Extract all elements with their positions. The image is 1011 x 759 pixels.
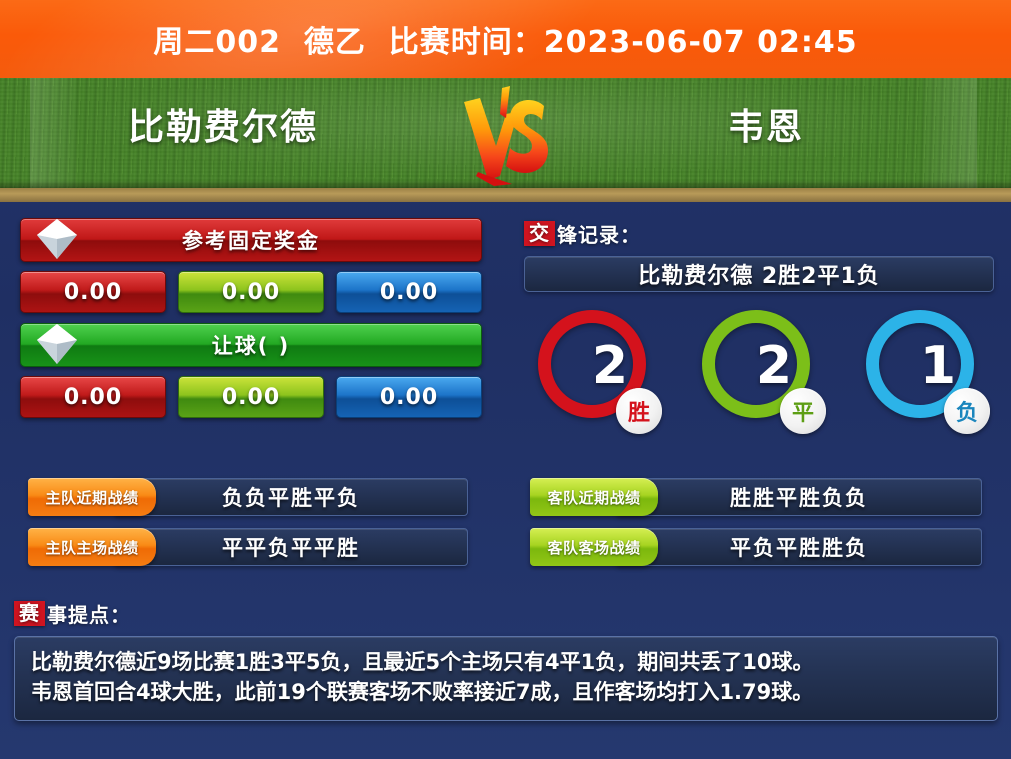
away-recent-form-row: 客队近期战绩 胜胜平胜负负 [530, 478, 982, 516]
away-venue-form-value: 平负平胜胜负 [616, 528, 982, 566]
away-recent-form-value: 胜胜平胜负负 [616, 478, 982, 516]
h2h-label-text: 锋记录： [557, 219, 641, 248]
h2h-summary: 比勒费尔德 2胜2平1负 [524, 256, 994, 292]
h2h-chip: 交 [524, 221, 555, 246]
grass-stripe-left [30, 78, 76, 188]
handicap-label: 让球( ) [212, 330, 291, 360]
away-venue-form-tag: 客队客场战绩 [530, 528, 658, 566]
home-venue-form-row: 主队主场战绩 平平负平平胜 [28, 528, 468, 566]
dirt-strip [0, 188, 1011, 202]
home-form-rows: 主队近期战绩 负负平胜平负 主队主场战绩 平平负平平胜 [28, 478, 468, 578]
handicap-values-row: 0.00 0.00 0.00 [20, 376, 482, 418]
tips-section-label: 赛 事提点： [14, 598, 998, 628]
home-team-name: 比勒费尔德 [128, 98, 318, 150]
tips-box: 比勒费尔德近9场比赛1胜3平5负，且最近5个主场只有4平1负，期间共丢了10球。… [14, 636, 998, 721]
home-recent-form-value: 负负平胜平负 [114, 478, 468, 516]
h2h-panel: 交 锋记录： 比勒费尔德 2胜2平1负 2 胜 2 平 1 负 [524, 218, 994, 430]
tips-section: 赛 事提点： 比勒费尔德近9场比赛1胜3平5负，且最近5个主场只有4平1负，期间… [14, 598, 998, 721]
h2h-ring-draw: 2 平 [702, 310, 822, 430]
home-venue-form-tag: 主队主场战绩 [28, 528, 156, 566]
away-venue-form-row: 客队客场战绩 平负平胜胜负 [530, 528, 982, 566]
h2h-ring-win: 2 胜 [538, 310, 658, 430]
handicap-draw-value[interactable]: 0.00 [178, 376, 324, 418]
away-form-rows: 客队近期战绩 胜胜平胜负负 客队客场战绩 平负平胜胜负 [530, 478, 982, 578]
h2h-section-label: 交 锋记录： [524, 218, 994, 248]
handicap-lose-value[interactable]: 0.00 [336, 376, 482, 418]
fixed-prize-header[interactable]: 参考固定奖金 [20, 218, 482, 262]
fixed-prize-label: 参考固定奖金 [182, 225, 320, 255]
away-recent-form-tag: 客队近期战绩 [530, 478, 658, 516]
page-header: 周二002 德乙 比赛时间：2023-06-07 02:45 [0, 0, 1011, 78]
diamond-icon [31, 318, 83, 370]
ring-draw-badge: 平 [780, 388, 826, 434]
ring-win-badge: 胜 [616, 388, 662, 434]
fixed-prize-draw-value[interactable]: 0.00 [178, 271, 324, 313]
vs-icon [456, 84, 556, 188]
match-preview-page: 周二002 德乙 比赛时间：2023-06-07 02:45 比勒费尔德 韦恩 [0, 0, 1011, 759]
handicap-header[interactable]: 让球( ) [20, 323, 482, 367]
odds-panel: 参考固定奖金 0.00 0.00 0.00 让球( ) 0.00 0.00 0.… [20, 218, 482, 428]
tips-line-1: 比勒费尔德近9场比赛1胜3平5负，且最近5个主场只有4平1负，期间共丢了10球。 [31, 648, 981, 678]
header-title: 周二002 德乙 比赛时间：2023-06-07 02:45 [153, 17, 857, 61]
grass-stripe-right [923, 78, 977, 188]
fixed-prize-win-value[interactable]: 0.00 [20, 271, 166, 313]
handicap-win-value[interactable]: 0.00 [20, 376, 166, 418]
h2h-rings: 2 胜 2 平 1 负 [524, 306, 994, 430]
fixed-prize-values-row: 0.00 0.00 0.00 [20, 271, 482, 313]
fixed-prize-lose-value[interactable]: 0.00 [336, 271, 482, 313]
tips-chip: 赛 [14, 601, 45, 626]
tips-label-text: 事提点： [47, 599, 131, 628]
home-recent-form-row: 主队近期战绩 负负平胜平负 [28, 478, 468, 516]
diamond-icon [31, 213, 83, 265]
home-recent-form-tag: 主队近期战绩 [28, 478, 156, 516]
h2h-ring-lose: 1 负 [866, 310, 986, 430]
ring-lose-badge: 负 [944, 388, 990, 434]
tips-line-2: 韦恩首回合4球大胜，此前19个联赛客场不败率接近7成，且作客场均打入1.79球。 [31, 678, 981, 708]
home-venue-form-value: 平平负平平胜 [114, 528, 468, 566]
away-team-name: 韦恩 [728, 98, 804, 150]
